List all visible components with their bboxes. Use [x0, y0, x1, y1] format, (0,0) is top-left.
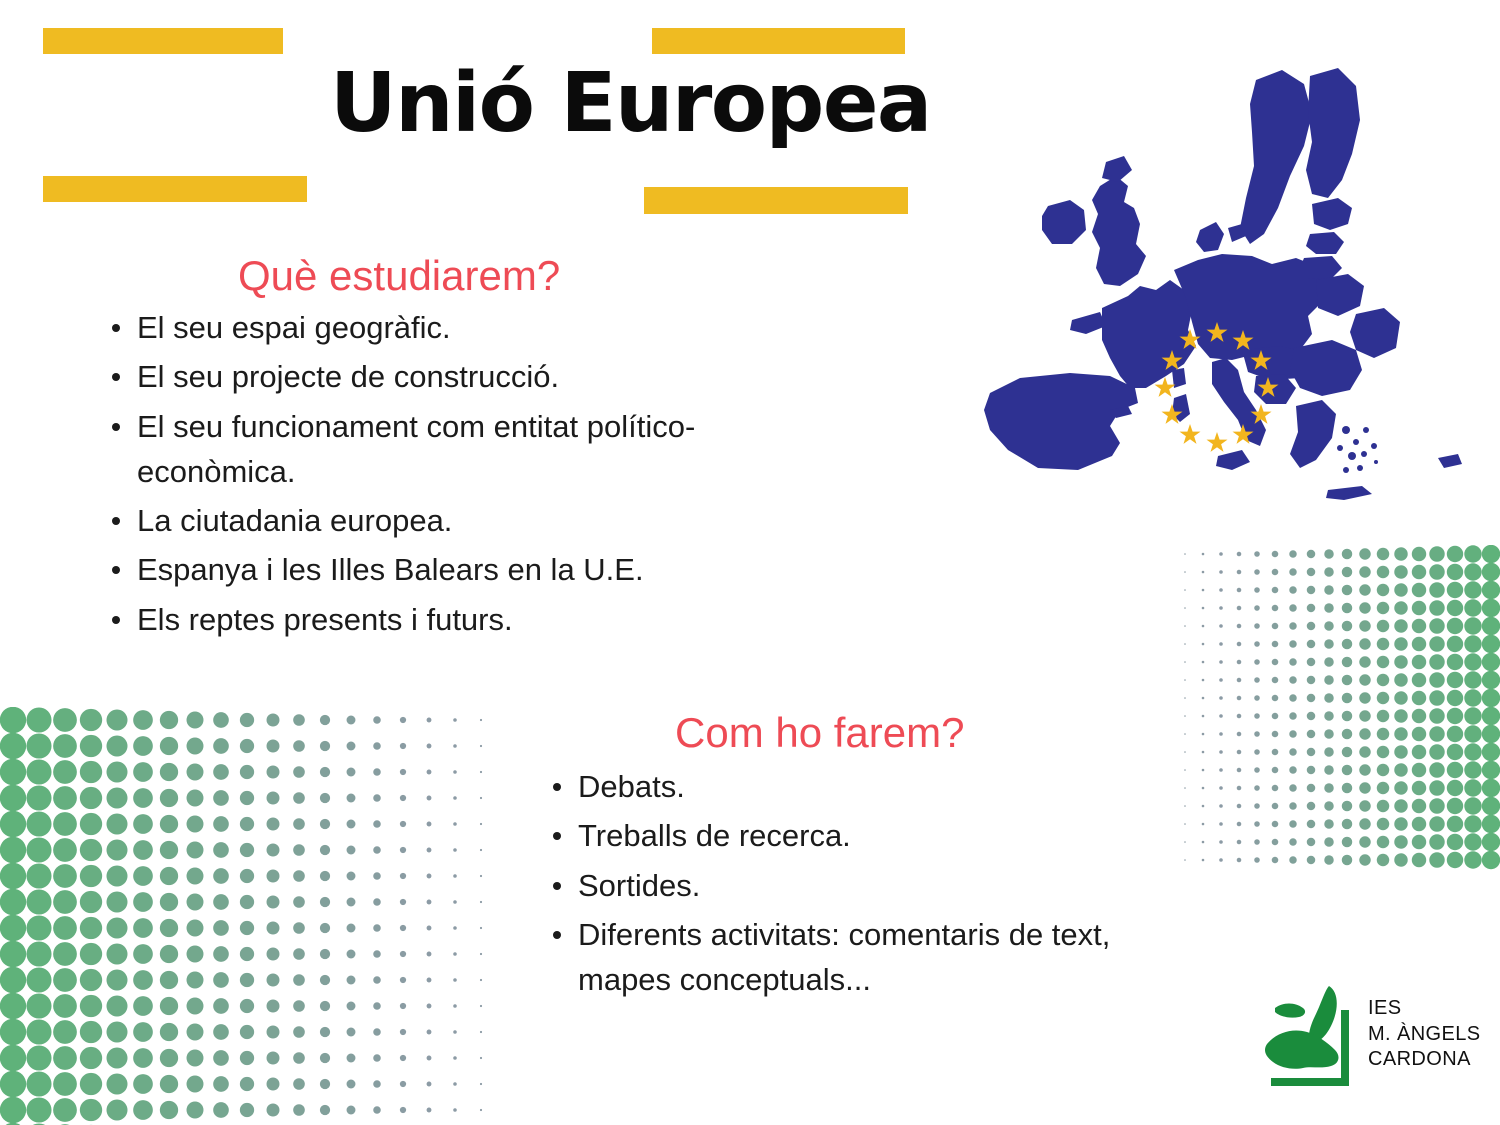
- list-item: Treballs de recerca.: [545, 813, 1185, 858]
- list-item: Sortides.: [545, 863, 1185, 908]
- top-right-yellow-bar: [652, 28, 905, 54]
- list-item: El seu funcionament com entitat político…: [104, 404, 804, 495]
- right-halftone-dot-pattern: [1176, 545, 1500, 871]
- list-item: Diferents activitats: comentaris de text…: [545, 912, 1185, 1003]
- logo-line-1: IES: [1368, 996, 1481, 1022]
- bottom-right-yellow-bar: [644, 187, 908, 214]
- list-item: Els reptes presents i futurs.: [104, 597, 804, 642]
- list-item: Espanya i les Illes Balears en la U.E.: [104, 547, 804, 592]
- slide-canvas: Unió Europea Què estudiarem? El seu espa…: [0, 0, 1500, 1125]
- top-left-yellow-bar: [43, 28, 283, 54]
- list-item: La ciutadania europea.: [104, 498, 804, 543]
- logo-line-2: M. ÀNGELS: [1368, 1022, 1481, 1048]
- school-logo: IES M. ÀNGELS CARDONA: [1255, 980, 1470, 1095]
- european-union-map-icon: [960, 58, 1500, 548]
- page-title: Unió Europea: [330, 62, 930, 146]
- section-heading-estudiarem: Què estudiarem?: [238, 252, 560, 300]
- list-item: El seu projecte de construcció.: [104, 354, 804, 399]
- list-item: El seu espai geogràfic.: [104, 305, 804, 350]
- section-heading-farem: Com ho farem?: [675, 709, 964, 757]
- menorca-island-icon: [1255, 980, 1365, 1095]
- bullet-list-estudiarem: El seu espai geogràfic. El seu projecte …: [104, 305, 804, 646]
- bullet-list-farem: Debats. Treballs de recerca. Sortides. D…: [545, 764, 1185, 1006]
- left-halftone-dot-pattern: [0, 707, 495, 1125]
- bottom-left-yellow-bar: [43, 176, 307, 202]
- logo-text: IES M. ÀNGELS CARDONA: [1368, 996, 1481, 1073]
- list-item: Debats.: [545, 764, 1185, 809]
- logo-line-3: CARDONA: [1368, 1047, 1481, 1073]
